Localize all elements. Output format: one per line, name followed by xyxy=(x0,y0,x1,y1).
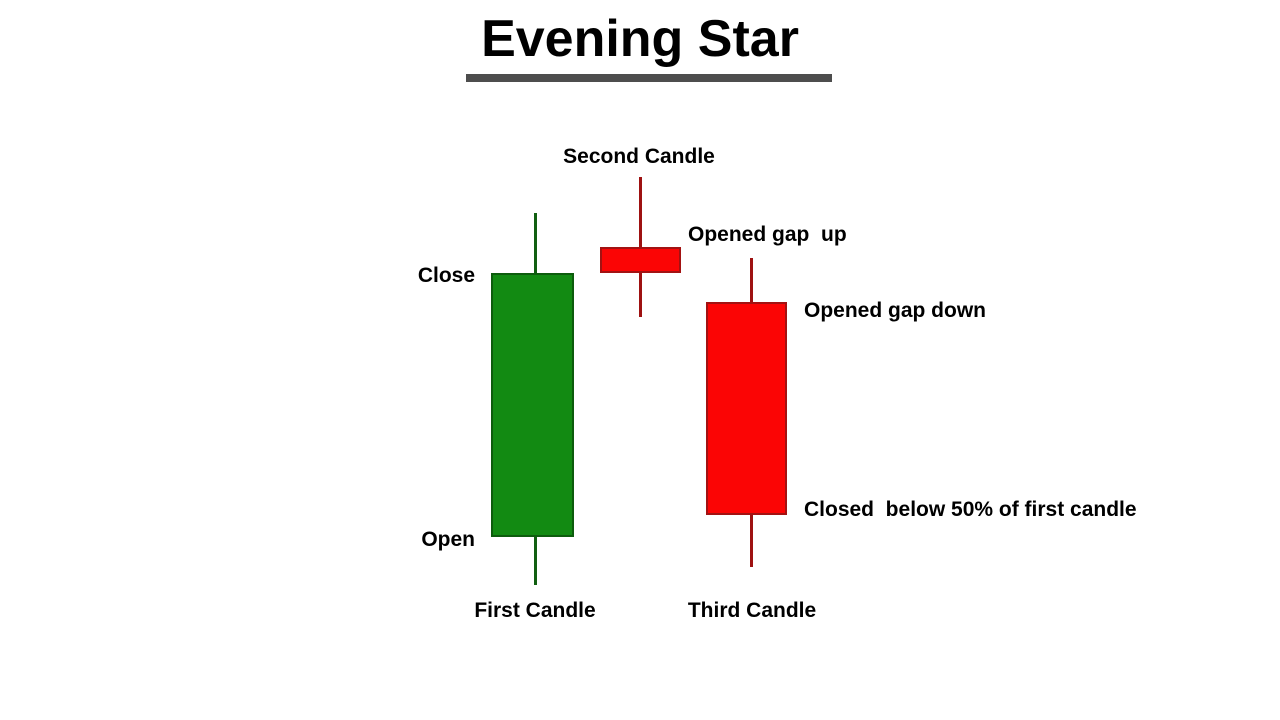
page-title: Evening Star xyxy=(0,8,1280,70)
label-third-candle: Third Candle xyxy=(602,598,902,624)
label-open: Open xyxy=(303,527,475,553)
slide-canvas: Evening Star Close Open Second Candle Op… xyxy=(0,0,1280,720)
label-opened-gap-up: Opened gap up xyxy=(688,222,1018,248)
candle-3-body xyxy=(706,302,787,515)
candle-2-body xyxy=(600,247,681,273)
label-opened-gap-down: Opened gap down xyxy=(804,298,1134,324)
title-underline-rule xyxy=(466,74,832,82)
label-closed-below-50-percent: Closed below 50% of first candle xyxy=(804,497,1234,523)
candle-1-body xyxy=(491,273,574,537)
label-close: Close xyxy=(303,263,475,289)
label-second-candle: Second Candle xyxy=(489,144,789,170)
